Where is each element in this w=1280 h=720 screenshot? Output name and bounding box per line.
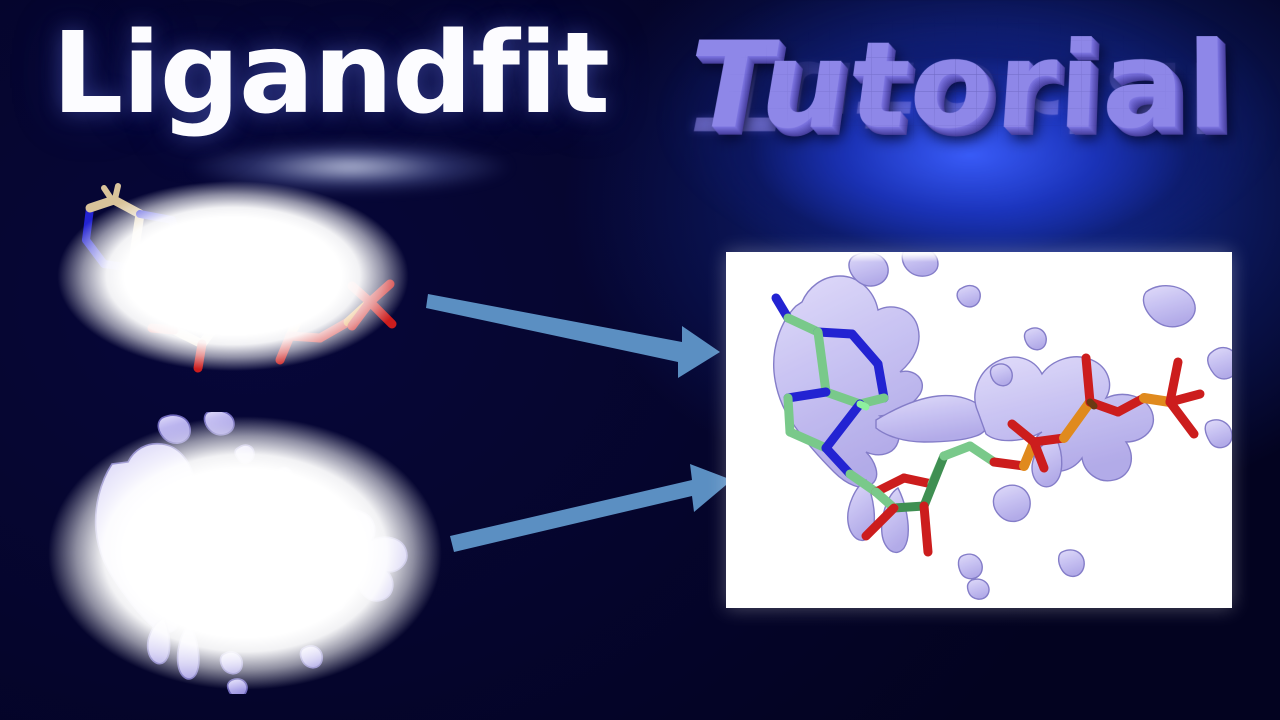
vignette-disc <box>52 178 414 374</box>
tutorial-graphic: Tutorial Tutorial <box>640 0 1280 275</box>
arrow-density-to-result <box>440 448 750 564</box>
arrow-ligand-to-result <box>420 278 740 398</box>
page-title: Ligandfit <box>52 18 609 130</box>
vignette-disc <box>42 412 448 694</box>
result-panel <box>726 252 1232 608</box>
density-map-vignette <box>42 412 448 694</box>
ligand-model-vignette <box>52 178 414 374</box>
title-slide: Ligandfit Tutorial Tutorial <box>0 0 1280 720</box>
fitted-ligand-in-density <box>726 252 1232 608</box>
tutorial-text: Tutorial <box>640 17 1280 156</box>
